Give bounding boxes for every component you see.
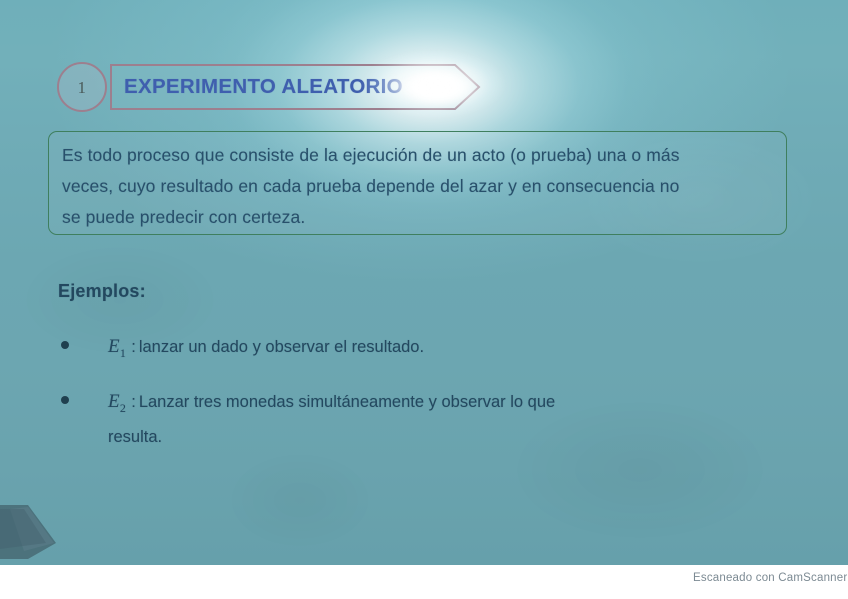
definition-text: Es todo proceso que consiste de la ejecu… (62, 140, 778, 233)
example-text: Lanzar tres monedas simultáneamente y ob… (139, 393, 555, 411)
section-title-text: EXPERIMENTO ALEATORIO (124, 72, 444, 102)
example-list-item: E2:Lanzar tres monedas simultáneamente y… (58, 388, 758, 451)
bullet-icon (61, 396, 69, 404)
definition-line-3: se puede predecir con certeza. (62, 202, 778, 233)
example-symbol-subscript: 1 (120, 346, 126, 360)
example-symbol: E1 (108, 336, 126, 357)
example-separator: : (131, 393, 136, 411)
example-symbol: E2 (108, 391, 126, 412)
example-text: lanzar un dado y observar el resultado. (139, 338, 424, 356)
page-corner-fold-icon (0, 499, 76, 565)
scanned-page: 1 EXPERIMENTO ALEATORIO Es todo proceso … (0, 0, 848, 599)
section-number-label: 1 (78, 79, 87, 96)
definition-line-2: veces, cuyo resultado en cada prueba dep… (62, 171, 778, 202)
example-symbol-subscript: 2 (120, 401, 126, 415)
scan-photo-area: 1 EXPERIMENTO ALEATORIO Es todo proceso … (0, 0, 848, 565)
example-separator: : (131, 338, 136, 356)
example-text-continuation: resulta. (108, 424, 758, 451)
definition-line-1: Es todo proceso que consiste de la ejecu… (62, 140, 778, 171)
section-number-badge: 1 (57, 62, 107, 112)
example-body: E2:Lanzar tres monedas simultáneamente y… (108, 388, 758, 422)
example-body: E1:lanzar un dado y observar el resultad… (108, 333, 758, 367)
example-list-item: E1:lanzar un dado y observar el resultad… (58, 333, 758, 367)
examples-heading: Ejemplos: (58, 281, 146, 302)
camscanner-watermark: Escaneado con CamScanner (693, 572, 847, 584)
bullet-icon (61, 341, 69, 349)
